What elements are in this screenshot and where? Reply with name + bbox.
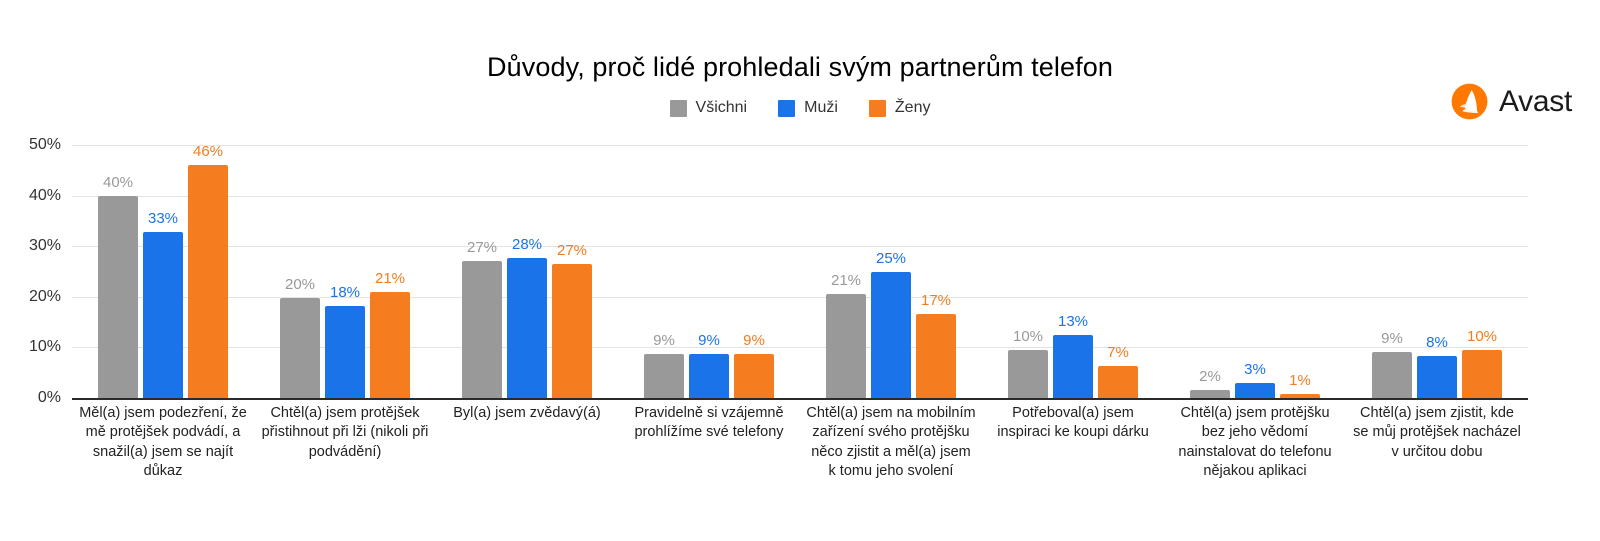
legend-item-muži[interactable]: Muži <box>778 99 838 117</box>
y-axis-tick-label: 20% <box>29 288 61 306</box>
bar-slot: 10% <box>1008 145 1048 398</box>
bar[interactable] <box>1417 356 1457 398</box>
bar-slot: 9% <box>644 145 684 398</box>
bar-slot: 46% <box>188 145 228 398</box>
x-axis-category-label: Chtěl(a) jsem protějšek přistihnout při … <box>254 404 436 481</box>
bar-slot: 25% <box>871 145 911 398</box>
bar-slot: 9% <box>1372 145 1412 398</box>
bar-slot: 40% <box>98 145 138 398</box>
bar-group-bars: 20%18%21% <box>254 145 436 398</box>
bar[interactable] <box>916 314 956 399</box>
bar-value-label: 1% <box>1289 372 1311 389</box>
bar-value-label: 2% <box>1199 368 1221 385</box>
avast-mark-icon <box>1451 83 1488 120</box>
bar-slot: 13% <box>1053 145 1093 398</box>
x-axis-category-label: Byl(a) jsem zvědavý(á) <box>436 404 618 481</box>
bar[interactable] <box>98 196 138 398</box>
bar[interactable] <box>552 264 592 398</box>
bar-group: 10%13%7% <box>982 145 1164 398</box>
bar[interactable] <box>370 292 410 398</box>
bar-slot: 9% <box>734 145 774 398</box>
bar-chart: Důvody, proč lidé prohledali svým partne… <box>0 0 1600 541</box>
bar-value-label: 9% <box>743 332 765 349</box>
bar-slot: 18% <box>325 145 365 398</box>
x-axis-category-label: Chtěl(a) jsem protějšku bez jeho vědomí … <box>1164 404 1346 481</box>
bar-value-label: 21% <box>831 272 861 289</box>
chart-title: Důvody, proč lidé prohledali svým partne… <box>0 52 1600 83</box>
bar-group-bars: 9%9%9% <box>618 145 800 398</box>
bar-slot: 8% <box>1417 145 1457 398</box>
legend-label: Ženy <box>895 99 931 117</box>
bar-value-label: 9% <box>1381 330 1403 347</box>
bar-group-bars: 27%28%27% <box>436 145 618 398</box>
bar-slot: 21% <box>826 145 866 398</box>
bar-slot: 1% <box>1280 145 1320 398</box>
bar-group: 20%18%21% <box>254 145 436 398</box>
x-axis-category-label: Měl(a) jsem podezření, že mě protějšek p… <box>72 404 254 481</box>
y-axis-tick-label: 50% <box>29 136 61 154</box>
bar-slot: 7% <box>1098 145 1138 398</box>
bar-value-label: 40% <box>103 174 133 191</box>
bar-value-label: 13% <box>1058 313 1088 330</box>
x-axis-line <box>72 398 1528 400</box>
bar[interactable] <box>462 261 502 398</box>
x-axis-category-label: Chtěl(a) jsem na mobilním zařízení svého… <box>800 404 982 481</box>
bar-value-label: 33% <box>148 210 178 227</box>
bar-value-label: 20% <box>285 276 315 293</box>
avast-wordmark: Avast <box>1499 87 1572 117</box>
bar-slot: 17% <box>916 145 956 398</box>
bar[interactable] <box>644 354 684 398</box>
bar-slot: 28% <box>507 145 547 398</box>
bar-value-label: 9% <box>698 332 720 349</box>
bar-value-label: 46% <box>193 143 223 160</box>
bar-slot: 9% <box>689 145 729 398</box>
bar-slot: 21% <box>370 145 410 398</box>
bar-value-label: 8% <box>1426 334 1448 351</box>
bar-group-bars: 2%3%1% <box>1164 145 1346 398</box>
legend-swatch-icon <box>778 100 795 117</box>
legend-label: Muži <box>804 99 838 117</box>
bar-slot: 3% <box>1235 145 1275 398</box>
bar-value-label: 27% <box>557 242 587 259</box>
bar-group: 40%33%46% <box>72 145 254 398</box>
bar[interactable] <box>1462 350 1502 398</box>
bar-group-bars: 40%33%46% <box>72 145 254 398</box>
bar-group: 9%8%10% <box>1346 145 1528 398</box>
bar[interactable] <box>1098 366 1138 398</box>
bar-group-bars: 9%8%10% <box>1346 145 1528 398</box>
bar[interactable] <box>280 298 320 398</box>
x-axis-category-label: Chtěl(a) jsem zjistit, kde se můj protěj… <box>1346 404 1528 481</box>
bar[interactable] <box>325 306 365 398</box>
bar-slot: 33% <box>143 145 183 398</box>
bar-value-label: 10% <box>1467 328 1497 345</box>
bar[interactable] <box>689 354 729 398</box>
bar[interactable] <box>1190 390 1230 398</box>
bar-value-label: 25% <box>876 250 906 267</box>
bar[interactable] <box>507 258 547 398</box>
avast-logo: Avast <box>1451 83 1572 120</box>
bar-group-bars: 21%25%17% <box>800 145 982 398</box>
bar-group: 2%3%1% <box>1164 145 1346 398</box>
bar-value-label: 10% <box>1013 328 1043 345</box>
y-axis-tick-label: 40% <box>29 187 61 205</box>
bar-group: 9%9%9% <box>618 145 800 398</box>
bar[interactable] <box>734 354 774 398</box>
bar[interactable] <box>1008 350 1048 398</box>
bar-value-label: 17% <box>921 292 951 309</box>
bar-groups: 40%33%46%20%18%21%27%28%27%9%9%9%21%25%1… <box>72 145 1528 398</box>
bar[interactable] <box>826 294 866 398</box>
bar[interactable] <box>1280 394 1320 398</box>
bar[interactable] <box>188 165 228 398</box>
bar-value-label: 21% <box>375 270 405 287</box>
bar[interactable] <box>1372 352 1412 398</box>
y-axis-tick-label: 30% <box>29 237 61 255</box>
legend-label: Všichni <box>696 99 748 117</box>
x-axis-category-labels: Měl(a) jsem podezření, že mě protějšek p… <box>72 404 1528 481</box>
legend-swatch-icon <box>670 100 687 117</box>
bar-value-label: 28% <box>512 236 542 253</box>
bar-value-label: 7% <box>1107 344 1129 361</box>
bar-group: 27%28%27% <box>436 145 618 398</box>
bar-value-label: 27% <box>467 239 497 256</box>
legend-swatch-icon <box>869 100 886 117</box>
bar[interactable] <box>143 232 183 398</box>
x-axis-category-label: Potřeboval(a) jsem inspiraci ke koupi dá… <box>982 404 1164 481</box>
bar-group: 21%25%17% <box>800 145 982 398</box>
x-axis-category-label: Pravidelně si vzájemně prohlížíme své te… <box>618 404 800 481</box>
bar-value-label: 18% <box>330 284 360 301</box>
bar-value-label: 3% <box>1244 361 1266 378</box>
plot-area: 50%40%30%20%10%0% 40%33%46%20%18%21%27%2… <box>72 145 1528 398</box>
bar[interactable] <box>871 272 911 398</box>
legend-item-všichni[interactable]: Všichni <box>670 99 748 117</box>
legend-item-ženy[interactable]: Ženy <box>869 99 931 117</box>
y-axis-tick-label: 0% <box>38 389 61 407</box>
bar-slot: 27% <box>552 145 592 398</box>
bar[interactable] <box>1235 383 1275 398</box>
bar-slot: 2% <box>1190 145 1230 398</box>
bar-group-bars: 10%13%7% <box>982 145 1164 398</box>
bar-slot: 27% <box>462 145 502 398</box>
bar-value-label: 9% <box>653 332 675 349</box>
y-axis-tick-label: 10% <box>29 338 61 356</box>
bar-slot: 20% <box>280 145 320 398</box>
chart-legend: VšichniMužiŽeny <box>0 99 1600 117</box>
bar-slot: 10% <box>1462 145 1502 398</box>
bar[interactable] <box>1053 335 1093 398</box>
